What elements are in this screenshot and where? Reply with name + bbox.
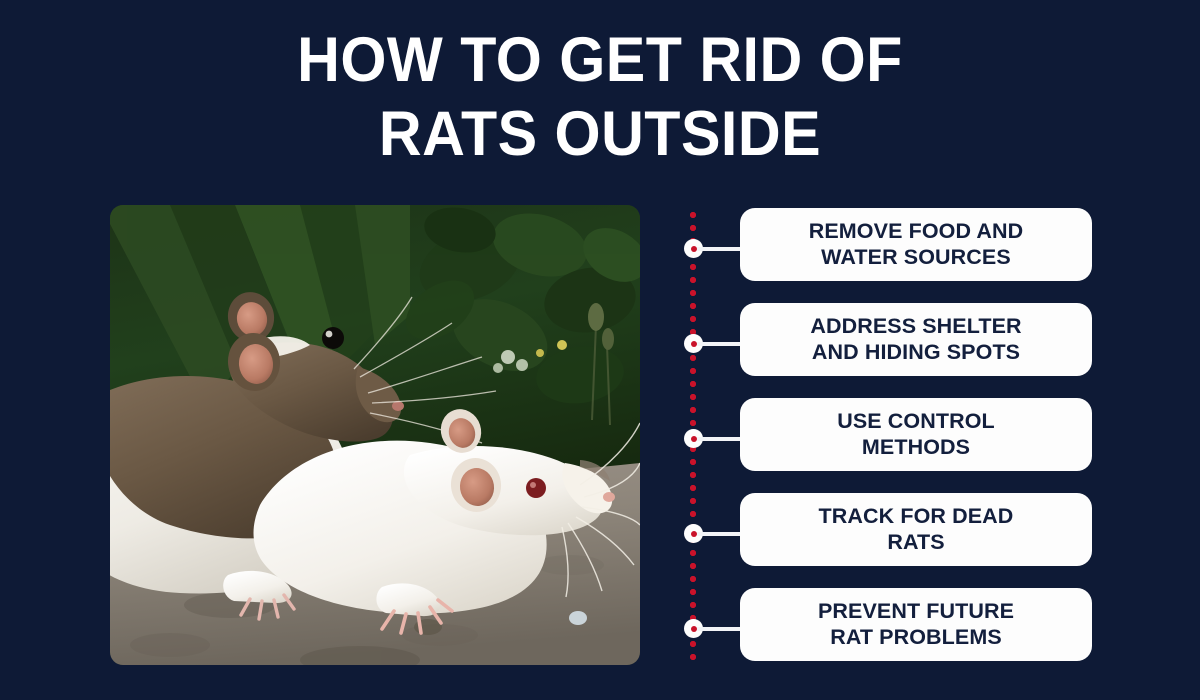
step-connector-4 [697, 532, 741, 536]
step-connector-5 [697, 627, 741, 631]
step-card-3[interactable]: USE CONTROL METHODS [740, 398, 1092, 471]
step-label-2: ADDRESS SHELTER AND HIDING SPOTS [810, 314, 1021, 365]
rats-photo [110, 205, 640, 665]
page-title: HOW TO GET RID OF RATS OUTSIDE [36, 24, 1164, 171]
infographic-canvas: HOW TO GET RID OF RATS OUTSIDE [0, 0, 1200, 700]
step-connector-1 [697, 247, 741, 251]
rats-photo-illustration [110, 205, 640, 665]
step-connector-3 [697, 437, 741, 441]
step-label-5: PREVENT FUTURE RAT PROBLEMS [818, 599, 1014, 650]
step-label-3: USE CONTROL METHODS [837, 409, 995, 460]
step-label-4: TRACK FOR DEAD RATS [819, 504, 1014, 555]
step-card-1[interactable]: REMOVE FOOD AND WATER SOURCES [740, 208, 1092, 281]
steps-timeline [690, 212, 702, 664]
step-card-5[interactable]: PREVENT FUTURE RAT PROBLEMS [740, 588, 1092, 661]
step-connector-2 [697, 342, 741, 346]
step-label-1: REMOVE FOOD AND WATER SOURCES [809, 219, 1024, 270]
step-card-2[interactable]: ADDRESS SHELTER AND HIDING SPOTS [740, 303, 1092, 376]
step-card-4[interactable]: TRACK FOR DEAD RATS [740, 493, 1092, 566]
